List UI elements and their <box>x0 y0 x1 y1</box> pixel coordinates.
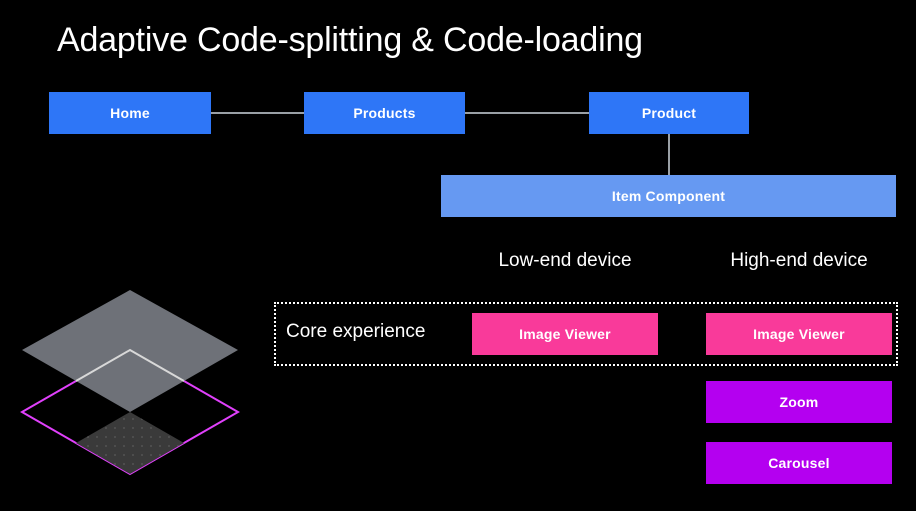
chip-high-end-zoom[interactable]: Zoom <box>706 381 892 423</box>
flow-node-item-component[interactable]: Item Component <box>441 175 896 217</box>
column-header-low-end-device: Low-end device <box>472 250 658 272</box>
flow-node-product[interactable]: Product <box>589 92 749 134</box>
slide-canvas: Adaptive Code-splitting & Code-loading H… <box>0 0 916 511</box>
flow-node-products[interactable]: Products <box>304 92 465 134</box>
connector-home-to-products <box>211 112 304 114</box>
isometric-layers-svg <box>14 282 254 487</box>
column-header-high-end-device: High-end device <box>706 250 892 272</box>
isometric-layers-graphic <box>14 282 254 487</box>
flow-node-home[interactable]: Home <box>49 92 211 134</box>
page-title: Adaptive Code-splitting & Code-loading <box>57 18 643 62</box>
chip-high-end-carousel[interactable]: Carousel <box>706 442 892 484</box>
bottom-layer-dot-texture <box>76 412 184 474</box>
connector-products-to-product <box>465 112 589 114</box>
chip-high-end-image-viewer[interactable]: Image Viewer <box>706 313 892 355</box>
chip-low-end-image-viewer[interactable]: Image Viewer <box>472 313 658 355</box>
connector-product-to-item-component <box>668 134 670 175</box>
core-experience-row-label: Core experience <box>286 321 425 343</box>
